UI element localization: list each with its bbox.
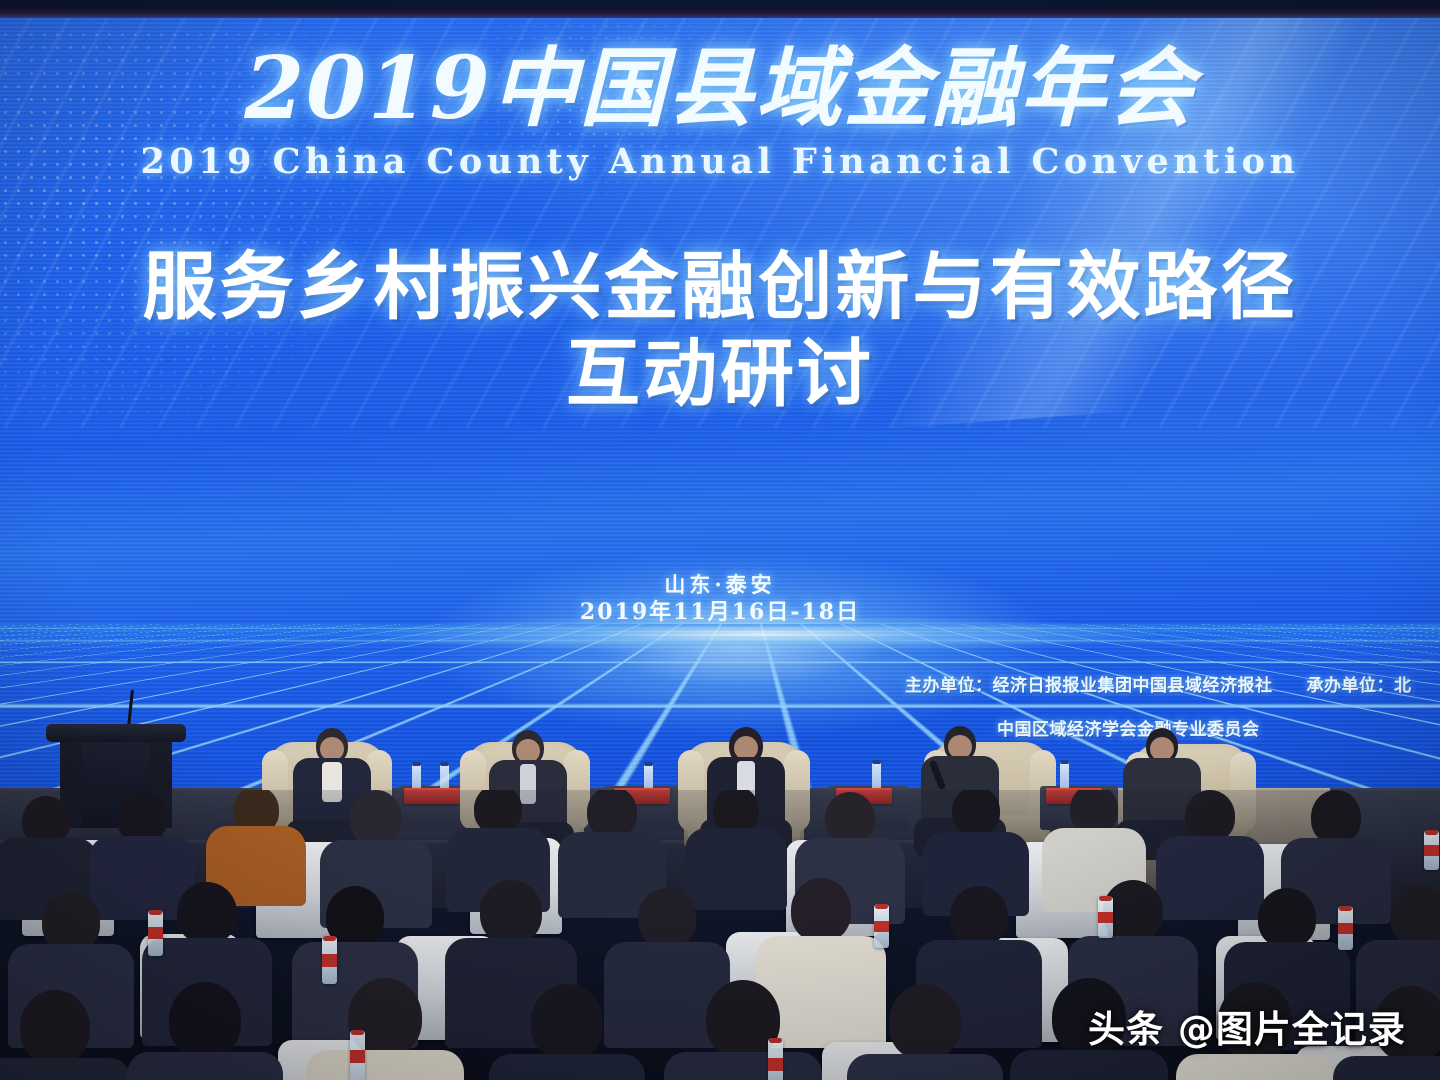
event-date: 2019年11月16日-18日 <box>0 594 1440 626</box>
conference-photo: 2019中国县域金融年会 2019 China County Annual Fi… <box>0 0 1440 1080</box>
convention-headline-chinese: 2019中国县域金融年会 <box>0 46 1440 132</box>
audience-member <box>860 980 990 1080</box>
water-bottle <box>874 904 889 948</box>
water-bottle <box>872 760 881 790</box>
water-bottle <box>1098 896 1113 938</box>
water-bottle <box>350 1030 365 1080</box>
water-bottle <box>1338 906 1353 950</box>
convention-headline-english: 2019 China County Annual Financial Conve… <box>0 141 1440 182</box>
audience-member <box>320 974 450 1080</box>
session-topic-line-2: 互动研讨 <box>0 331 1440 418</box>
water-bottle <box>644 762 653 790</box>
audience-member <box>0 986 120 1080</box>
water-bottle <box>322 936 337 984</box>
source-watermark: 头条 @图片全记录 <box>1088 999 1406 1053</box>
audience-member <box>140 978 270 1080</box>
water-bottle <box>768 1038 783 1080</box>
session-topic-line-1: 服务乡村振兴金融创新与有效路径 <box>143 244 1298 330</box>
session-topic: 服务乡村振兴金融创新与有效路径 互动研讨 <box>0 244 1440 419</box>
audience-member <box>678 976 808 1080</box>
host-organization-line-1: 主办单位：经济日报报业集团中国县域经济报社 <box>905 671 1273 696</box>
water-bottle <box>148 910 163 956</box>
water-bottle <box>412 762 421 790</box>
water-bottle <box>1424 830 1439 870</box>
screen-top-dark-edge <box>0 8 1440 18</box>
water-bottle <box>440 762 449 790</box>
cohost-organization-line-1: 承办单位：北 <box>1307 671 1412 696</box>
water-bottle <box>1060 760 1069 790</box>
led-backdrop-screen: 2019中国县域金融年会 2019 China County Annual Fi… <box>0 8 1440 788</box>
audience-member <box>502 980 632 1080</box>
